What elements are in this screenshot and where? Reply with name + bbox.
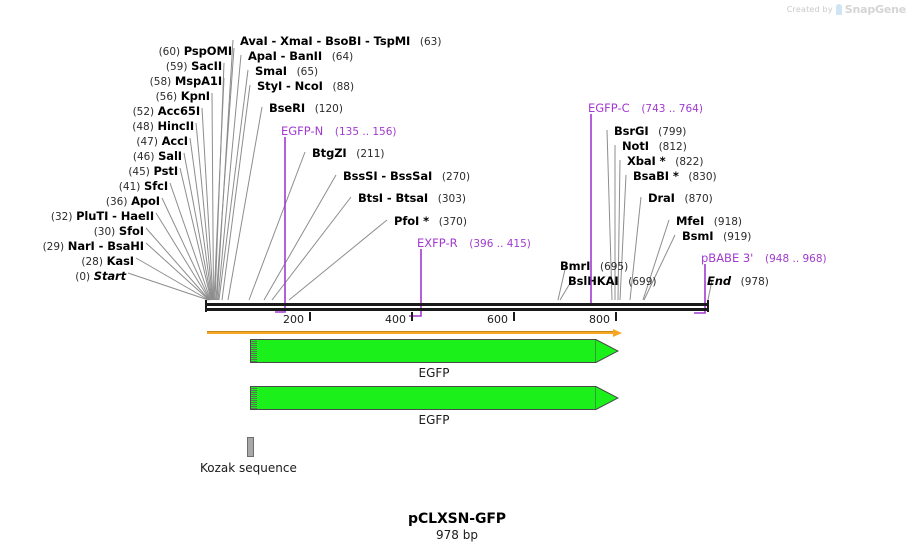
site-name: XbaI * [627, 154, 666, 168]
site-name: End [707, 274, 731, 288]
backbone-top-strand [205, 303, 709, 306]
site-name: DraI [648, 191, 675, 205]
gene-arrow-head [595, 339, 619, 363]
site-name: MfeI [676, 214, 704, 228]
site-position: (45) [128, 166, 150, 178]
feature-range: (396 .. 415) [469, 238, 531, 250]
site-name: StyI - NcoI [257, 79, 323, 93]
site-name: SmaI [255, 64, 287, 78]
site-position: (63) [420, 36, 442, 48]
site-label-hincii[interactable]: (48) HincII [50, 120, 194, 133]
site-label-end[interactable]: End (978) [707, 275, 769, 288]
site-position: (370) [439, 216, 467, 228]
site-position: (52) [133, 106, 155, 118]
site-label-btgzi[interactable]: BtgZI (211) [312, 147, 385, 160]
site-name: PspOMI [184, 44, 232, 58]
backbone-right-cap [707, 300, 709, 312]
site-label-bsmi[interactable]: BsmI (919) [682, 230, 751, 243]
site-label-mspa1i[interactable]: (58) MspA1I [60, 75, 222, 88]
site-position: (88) [333, 81, 355, 93]
site-name: BtsI - BtsaI [358, 191, 428, 205]
site-position: (830) [688, 171, 716, 183]
gene-arrow-body [250, 339, 596, 363]
site-position: (120) [315, 103, 343, 115]
site-name: NotI [622, 139, 649, 153]
site-name: BssSI - BssSaI [343, 169, 432, 183]
site-name: BsaBI * [633, 169, 679, 183]
site-position: (822) [675, 156, 703, 168]
site-position: (59) [166, 61, 188, 73]
site-label-bslhkai[interactable]: BslHKAI (699) [568, 275, 656, 288]
site-position: (64) [332, 51, 354, 63]
gene-arrow-egfp-1[interactable] [250, 339, 618, 363]
site-name: ApaI - BanII [248, 49, 322, 63]
site-label-start[interactable]: (0) Start [10, 270, 126, 283]
site-name: SalI [158, 149, 182, 163]
site-label-apoi[interactable]: (36) ApoI [30, 195, 160, 208]
ruler-tick-200 [309, 312, 311, 321]
site-name: Start [94, 269, 126, 283]
site-name: BmrI [560, 259, 590, 273]
feature-range: (948 .. 968) [765, 253, 827, 265]
site-position: (29) [43, 241, 65, 253]
site-label-apai-banii[interactable]: ApaI - BanII (64) [248, 50, 353, 63]
site-label-pfoi[interactable]: PfoI * (370) [394, 215, 467, 228]
ruler-label-400: 400 [385, 313, 406, 326]
gene-arrow-start-hatch [251, 340, 257, 362]
kozak-feature-box[interactable] [247, 437, 254, 457]
site-label-styi-ncoi[interactable]: StyI - NcoI (88) [257, 80, 354, 93]
orientation-arrow-head [613, 329, 622, 337]
site-position: (270) [442, 171, 470, 183]
site-name: ApoI [131, 194, 160, 208]
site-name: HincII [157, 119, 194, 133]
ruler-label-600: 600 [487, 313, 508, 326]
site-label-sfci[interactable]: (41) SfcI [40, 180, 168, 193]
site-name: SfoI [119, 224, 144, 238]
plasmid-title: pCLXSN-GFP [0, 511, 914, 527]
site-position: (36) [106, 196, 128, 208]
site-label-bsrgi[interactable]: BsrGI (799) [614, 125, 686, 138]
ruler-tick-800 [615, 312, 617, 321]
site-position: (799) [658, 126, 686, 138]
site-label-kpni[interactable]: (56) KpnI [60, 90, 210, 103]
snapgene-brand-label: SnapGene [845, 3, 906, 16]
site-label-acci[interactable]: (47) AccI [50, 135, 188, 148]
site-position: (56) [156, 91, 178, 103]
site-label-sfoi[interactable]: (30) SfoI [20, 225, 144, 238]
site-name: KasI [107, 254, 134, 268]
site-position: (46) [133, 151, 155, 163]
site-label-plutihaeii[interactable]: (32) PluTI - HaeII [10, 210, 154, 223]
site-label-acc65i[interactable]: (52) Acc65I [50, 105, 200, 118]
backbone-left-cap [205, 300, 207, 312]
ruler-tick-400 [411, 312, 413, 321]
feature-name: EGFP-N [281, 124, 323, 138]
site-label-kasi[interactable]: (28) KasI [10, 255, 134, 268]
site-position: (211) [356, 148, 384, 160]
site-position: (28) [81, 256, 103, 268]
site-position: (870) [685, 193, 713, 205]
site-name: MspA1I [175, 74, 222, 88]
backbone-bottom-strand [205, 308, 709, 311]
feature-label-exfp-r[interactable]: EXFP-R (396 .. 415) [417, 237, 531, 250]
site-label-avai-xmai-bsobi-tspmi[interactable]: AvaI - XmaI - BsoBI - TspMI (63) [240, 35, 441, 48]
site-label-sacii[interactable]: (59) SacII [60, 60, 222, 73]
site-name: BsmI [682, 229, 713, 243]
site-label-noti[interactable]: NotI (812) [622, 140, 687, 153]
ruler-tick-600 [513, 312, 515, 321]
gene-label-egfp-2: EGFP [250, 413, 618, 427]
site-label-btsi-btsai[interactable]: BtsI - BtsaI (303) [358, 192, 466, 205]
site-name: BsrGI [614, 124, 649, 138]
site-position: (32) [51, 211, 73, 223]
site-name: BslHKAI [568, 274, 619, 288]
site-name: PstI [154, 164, 178, 178]
gene-arrow-head [595, 386, 619, 410]
site-label-psti[interactable]: (45) PstI [50, 165, 178, 178]
ruler-label-200: 200 [283, 313, 304, 326]
gene-arrow-body [250, 386, 596, 410]
site-name: AccI [162, 134, 188, 148]
gene-label-egfp-1: EGFP [250, 366, 618, 380]
site-label-bsssi-bsssai[interactable]: BssSI - BssSaI (270) [343, 170, 470, 183]
site-name: BseRI [269, 101, 305, 115]
plasmid-size: 978 bp [0, 528, 914, 542]
feature-label-pbabe-3prime[interactable]: pBABE 3' (948 .. 968) [701, 252, 827, 265]
site-position: (30) [94, 226, 116, 238]
site-position: (918) [714, 216, 742, 228]
snapgene-leaf-icon [836, 4, 842, 15]
site-label-bmri[interactable]: BmrI (695) [560, 260, 628, 273]
site-label-bseri[interactable]: BseRI (120) [269, 102, 343, 115]
orientation-arrow-shaft [207, 331, 613, 334]
site-name: Acc65I [158, 104, 200, 118]
feature-name: pBABE 3' [701, 251, 753, 265]
site-label-drai[interactable]: DraI (870) [648, 192, 713, 205]
site-position: (699) [628, 276, 656, 288]
site-position: (60) [159, 46, 181, 58]
ruler-label-800: 800 [589, 313, 610, 326]
site-position: (0) [75, 271, 90, 283]
site-name: SacII [191, 59, 222, 73]
kozak-label: Kozak sequence [200, 461, 297, 475]
site-position: (48) [132, 121, 154, 133]
plasmid-backbone[interactable] [205, 300, 709, 312]
orientation-arrow [207, 329, 622, 337]
feature-label-egfp-n[interactable]: EGFP-N (135 .. 156) [281, 125, 397, 138]
site-label-smai[interactable]: SmaI (65) [255, 65, 318, 78]
site-label-sali[interactable]: (46) SalI [50, 150, 182, 163]
feature-range: (743 .. 764) [641, 103, 703, 115]
site-position: (41) [119, 181, 141, 193]
site-name: NarI - BsaHI [68, 239, 144, 253]
site-position: (58) [150, 76, 172, 88]
site-name: PfoI * [394, 214, 429, 228]
feature-label-egfp-c[interactable]: EGFP-C (743 .. 764) [588, 102, 703, 115]
created-by-label: Created by [787, 5, 833, 14]
gene-arrow-egfp-2[interactable] [250, 386, 618, 410]
site-name: BtgZI [312, 146, 347, 160]
site-position: (303) [438, 193, 466, 205]
site-position: (978) [741, 276, 769, 288]
site-label-pspomi[interactable]: (60) PspOMI [60, 45, 232, 58]
site-label-naribsahi[interactable]: (29) NarI - BsaHI [0, 240, 144, 253]
site-position: (65) [297, 66, 319, 78]
site-name: AvaI - XmaI - BsoBI - TspMI [240, 34, 410, 48]
snapgene-credit: Created by SnapGene [787, 3, 906, 16]
site-position: (695) [600, 261, 628, 273]
gene-arrow-start-hatch [251, 387, 257, 409]
plasmid-map-canvas: Created by SnapGene [0, 0, 914, 550]
feature-name: EXFP-R [417, 236, 458, 250]
site-label-bsabi[interactable]: BsaBI * (830) [633, 170, 717, 183]
site-name: SfcI [144, 179, 168, 193]
site-label-xbai[interactable]: XbaI * (822) [627, 155, 703, 168]
feature-name: EGFP-C [588, 101, 630, 115]
site-position: (47) [136, 136, 158, 148]
site-name: KpnI [181, 89, 210, 103]
site-name: PluTI - HaeII [76, 209, 154, 223]
site-label-mfei[interactable]: MfeI (918) [676, 215, 742, 228]
site-position: (919) [723, 231, 751, 243]
feature-range: (135 .. 156) [335, 126, 397, 138]
site-position: (812) [659, 141, 687, 153]
